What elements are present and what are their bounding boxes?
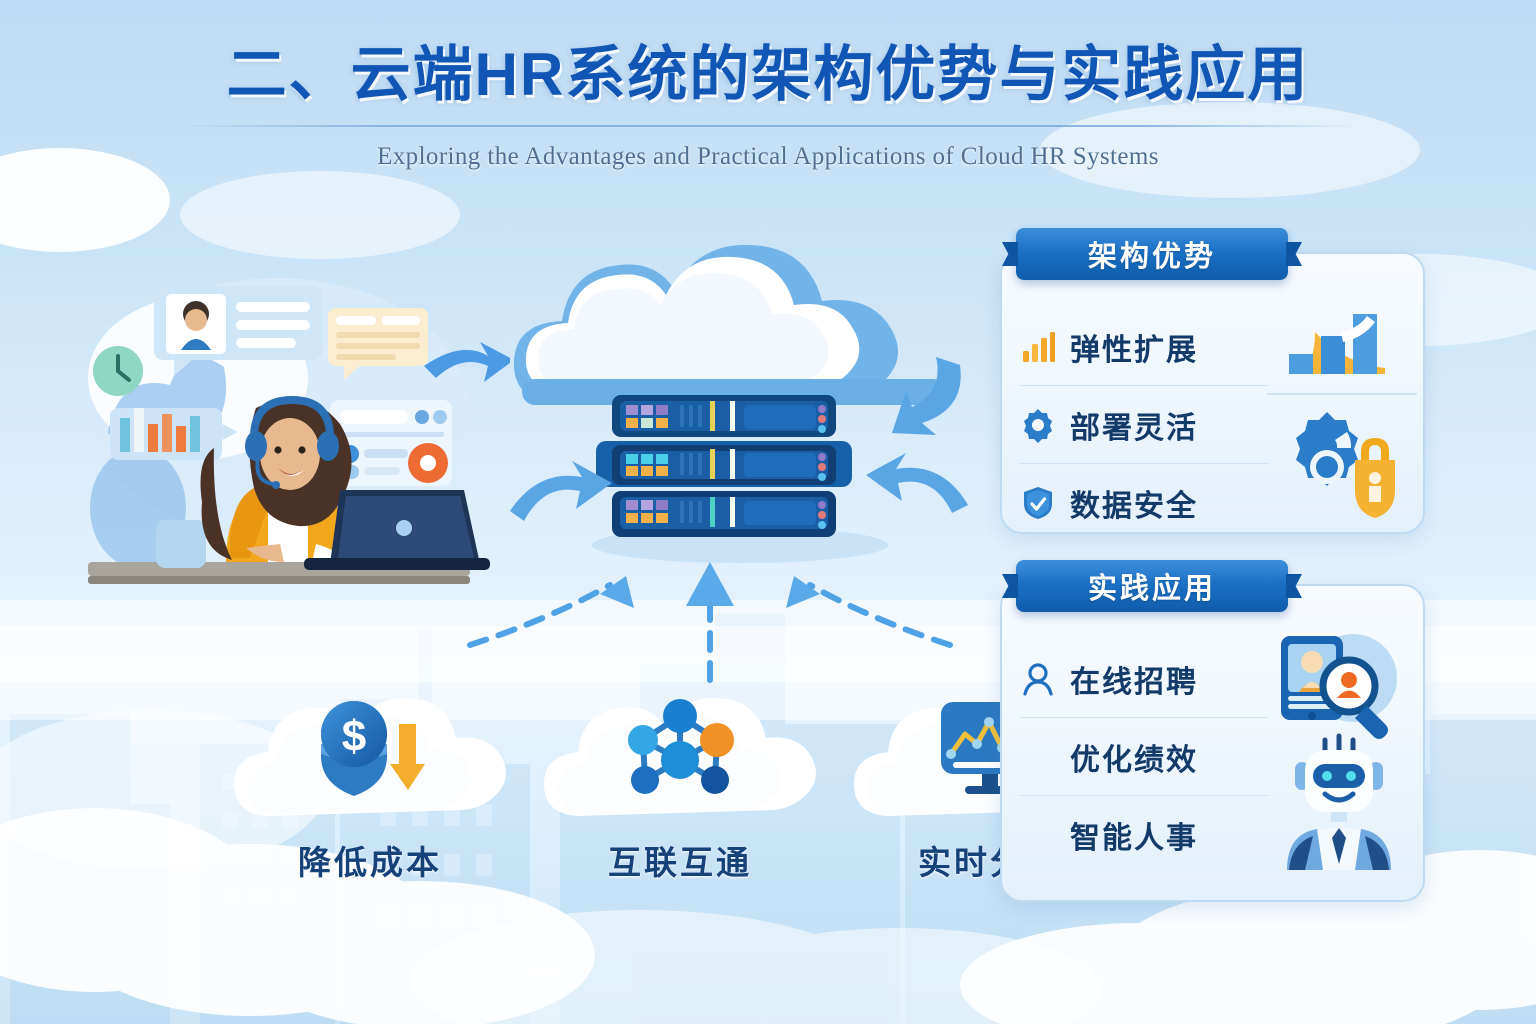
gear-lock-art [1296, 412, 1395, 518]
list-item[interactable]: 优化绩效 [1020, 718, 1268, 796]
applications-panel-artwork [1267, 630, 1417, 895]
application-item-list: 在线招聘 优化绩效 智能人事 [1020, 640, 1268, 874]
chart-monitor-icon [1020, 739, 1056, 775]
svg-text:$: $ [342, 712, 366, 761]
cloud-shape [514, 245, 946, 405]
bar-chart-icon [1020, 329, 1056, 365]
list-item[interactable]: 在线招聘 [1020, 640, 1268, 718]
feature-card-reduce-cost[interactable]: $ 降低成本 [232, 676, 508, 902]
panel-architecture-advantages: 架构优势 弹性扩展 [1000, 252, 1425, 534]
server-rack-stack [592, 395, 888, 563]
people-icon [1020, 817, 1056, 853]
shield-check-icon [1020, 485, 1056, 521]
page-subtitle: Exploring the Advantages and Practical A… [0, 143, 1536, 171]
title-divider [178, 125, 1358, 127]
network-nodes-icon [615, 694, 745, 806]
panel-practical-applications: 实践应用 在线招聘 优化绩效 智能人事 [1000, 584, 1425, 902]
mobile-profile-search-art [1281, 634, 1397, 739]
ai-robot-art [1287, 736, 1391, 870]
dollar-down-arrow-icon: $ [305, 694, 435, 806]
list-item-label: 数据安全 [1070, 481, 1198, 525]
feature-label: 互联互通 [542, 836, 818, 884]
cloud-server-diagram [500, 215, 980, 635]
feature-card-connectivity[interactable]: 互联互通 [542, 676, 818, 902]
list-item[interactable]: 数据安全 [1020, 464, 1268, 542]
panel-badge-architecture: 架构优势 [1016, 228, 1288, 280]
hr-agent-illustration [78, 258, 510, 606]
infographic-canvas: 二、云端HR系统的架构优势与实践应用 Exploring the Advanta… [0, 0, 1536, 1024]
list-item[interactable]: 弹性扩展 [1020, 308, 1268, 386]
list-item-label: 优化绩效 [1070, 735, 1198, 779]
list-item-label: 智能人事 [1070, 813, 1198, 857]
gear-icon [1020, 407, 1056, 443]
panel-badge-applications: 实践应用 [1016, 560, 1288, 612]
bar-chart-card [110, 408, 238, 460]
page-title: 二、云端HR系统的架构优势与实践应用 [0, 40, 1536, 109]
growth-bar-chart-art [1289, 314, 1385, 374]
clock-icon [93, 346, 143, 396]
page-header: 二、云端HR系统的架构优势与实践应用 Exploring the Advanta… [0, 40, 1536, 171]
architecture-panel-artwork [1267, 298, 1417, 533]
arrow-in-right [866, 453, 968, 513]
user-outline-icon [1020, 661, 1056, 697]
list-item[interactable]: 部署灵活 [1020, 386, 1268, 464]
architecture-item-list: 弹性扩展 部署灵活 数 [1020, 308, 1268, 542]
list-item-label: 在线招聘 [1070, 657, 1198, 701]
list-item-label: 弹性扩展 [1070, 325, 1198, 369]
feature-label: 降低成本 [232, 836, 508, 884]
list-item[interactable]: 智能人事 [1020, 796, 1268, 874]
list-item-label: 部署灵活 [1070, 403, 1198, 447]
